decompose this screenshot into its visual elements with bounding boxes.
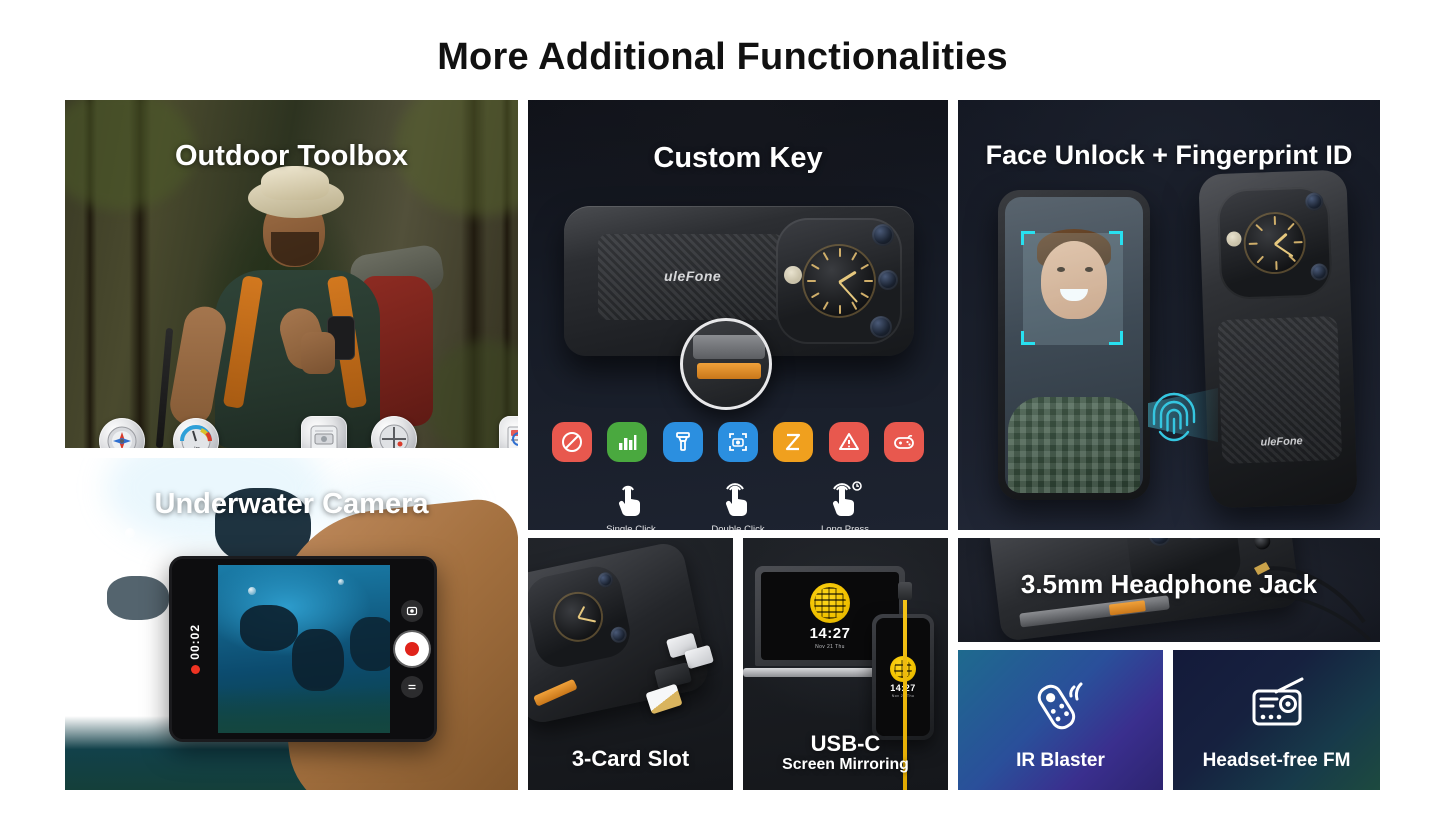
bubble: [248, 587, 256, 595]
record-dot: [405, 642, 419, 656]
recording-rail: 00:02: [172, 559, 218, 739]
infographic-root: More Additional Functionalities: [0, 0, 1445, 813]
gesture-legend: Single Click Double Click Long Press: [588, 478, 888, 530]
panel-custom-key: uleFone: [528, 100, 948, 530]
page-title: More Additional Functionalities: [0, 36, 1445, 79]
do-not-disturb-icon[interactable]: [552, 422, 592, 462]
record-button[interactable]: [395, 632, 429, 666]
sleep-mode-icon[interactable]: [773, 422, 813, 462]
long-press-icon: [802, 478, 888, 520]
svg-text:dB: dB: [192, 447, 201, 448]
face-bracket-corner: [1021, 331, 1035, 345]
camera-lens: [1310, 263, 1328, 281]
signal-bars-icon[interactable]: [607, 422, 647, 462]
camera-module: [528, 562, 635, 672]
clock-dial: [1243, 211, 1307, 275]
diver: [292, 629, 344, 691]
camera-viewfinder: [218, 565, 390, 733]
reef: [218, 687, 390, 733]
camera-lens: [878, 270, 898, 290]
gesture-double-click: Double Click: [695, 478, 781, 530]
face-unlock-phone-back: uleFone: [1198, 170, 1358, 509]
hiker-beard: [271, 232, 319, 266]
remote-control-icon: [958, 676, 1163, 730]
camera-controls: [390, 559, 434, 739]
panel-face-unlock: uleFone Face Unlock + Fingerprint ID: [958, 100, 1380, 530]
orange-custom-key: [533, 679, 578, 707]
double-click-icon: [695, 478, 781, 520]
card-slot-phone: [528, 540, 712, 726]
key-top: [693, 335, 765, 359]
card-slot-label: 3-Card Slot: [528, 747, 733, 772]
camera-lens: [872, 224, 894, 246]
panel-fm-radio: Headset-free FM: [1173, 650, 1380, 790]
document-scanner-tool-icon[interactable]: [499, 416, 518, 448]
level-tool-icon[interactable]: [301, 416, 347, 448]
flashlight-icon[interactable]: [663, 422, 703, 462]
laptop-clock: 14:27: [810, 625, 851, 642]
camera-lens: [1183, 538, 1208, 541]
usb-c-subtitle: Screen Mirroring: [743, 756, 948, 774]
usb-c-label: USB-C Screen Mirroring: [743, 732, 948, 774]
camera-lens: [597, 571, 615, 589]
laptop-date: Nov 21 Thu: [815, 644, 845, 650]
bubble: [338, 579, 344, 585]
switch-camera-button[interactable]: [401, 600, 423, 622]
fm-radio-label: Headset-free FM: [1173, 750, 1380, 772]
face-bracket-corner: [1109, 231, 1123, 245]
fingerprint-icon: [1146, 386, 1202, 448]
trekking-pole: [156, 328, 173, 448]
custom-key-label: Custom Key: [528, 142, 948, 174]
camera-module: [776, 218, 902, 344]
camera-module: [1217, 186, 1333, 300]
camera-lens: [609, 625, 628, 644]
portrait-shirt: [1008, 397, 1140, 493]
camera-lens: [870, 316, 892, 338]
ir-blaster-label: IR Blaster: [958, 750, 1163, 772]
gesture-label: Long Press: [802, 524, 888, 530]
brand-logo: uleFone: [1260, 435, 1303, 448]
panel-card-slot: 3-Card Slot: [528, 538, 733, 790]
camera-lens: [1147, 538, 1172, 547]
custom-key-function-icons: [552, 422, 924, 462]
clock-dial: [548, 587, 607, 646]
menu-button[interactable]: [401, 676, 423, 698]
custom-key-zoom-callout: [680, 318, 772, 410]
face-unlock-phone: [998, 190, 1150, 500]
sos-warning-icon[interactable]: [829, 422, 869, 462]
hiker-hand: [301, 332, 335, 374]
dare-to-explore-logo: [810, 583, 850, 623]
gesture-single-click: Single Click: [588, 478, 674, 530]
outdoor-toolbox-label: Outdoor Toolbox: [65, 140, 518, 172]
headphone-jack-label: 3.5mm Headphone Jack: [958, 570, 1380, 599]
usb-c-plug: [898, 582, 912, 600]
panel-usb-c: 14:27 Nov 21 Thu 14:27 Nov 21 Thu USB-C …: [743, 538, 948, 790]
radio-icon: [1173, 676, 1380, 730]
gesture-label: Double Click: [695, 524, 781, 530]
diver: [107, 576, 169, 620]
clock-dial: [802, 244, 876, 318]
panel-underwater-camera: 00:02: [65, 458, 518, 790]
face-bracket-corner: [1021, 231, 1035, 245]
phone-side-strip: [1019, 595, 1170, 627]
face-unlock-label: Face Unlock + Fingerprint ID: [958, 140, 1380, 170]
gesture-label: Single Click: [588, 524, 674, 530]
headphone-jack-port: [1253, 538, 1271, 550]
usb-c-title: USB-C: [811, 731, 881, 756]
orange-custom-key: [697, 363, 761, 379]
single-click-icon: [588, 478, 674, 520]
underwater-phone: 00:02: [169, 556, 437, 742]
camera-lens: [1305, 192, 1324, 211]
flash-led: [784, 266, 802, 284]
panel-ir-blaster: IR Blaster: [958, 650, 1163, 790]
game-mode-icon[interactable]: [884, 422, 924, 462]
scan-camera-icon[interactable]: [718, 422, 758, 462]
bubble: [125, 528, 135, 538]
flash-led: [1226, 231, 1242, 247]
face-scan-overlay: [1023, 233, 1123, 345]
phone-screen: [1005, 197, 1143, 493]
diver: [240, 605, 298, 651]
diver: [350, 617, 390, 671]
brand-logo: uleFone: [664, 268, 721, 284]
panel-outdoor-toolbox: dB: [65, 100, 518, 448]
panel-headphone-jack: 3.5mm Headphone Jack: [958, 538, 1380, 642]
face-bracket-corner: [1109, 331, 1123, 345]
gesture-long-press: Long Press: [802, 478, 888, 530]
recording-timer: 00:02: [188, 624, 202, 660]
recording-indicator-dot: [191, 665, 200, 674]
underwater-camera-label: Underwater Camera: [65, 488, 518, 520]
